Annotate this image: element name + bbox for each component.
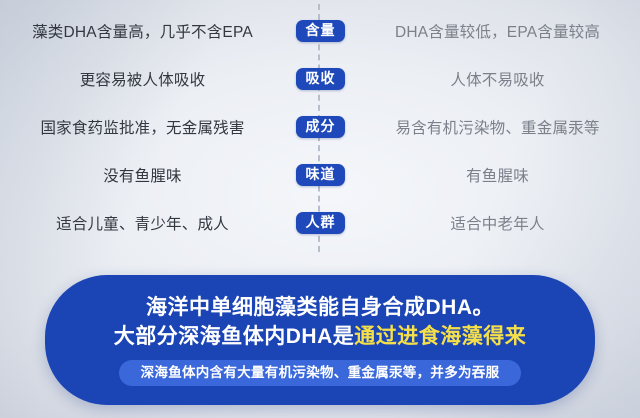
table-row: 藻类DHA含量高，几乎不含EPA 含量 DHA含量较低，EPA含量较高	[0, 18, 640, 44]
row-right-text: 适合中老年人	[355, 212, 640, 234]
row-badge-wrap: 吸收	[285, 68, 355, 90]
category-badge-audience: 人群	[296, 212, 345, 234]
row-right-text: DHA含量较低，EPA含量较高	[355, 20, 640, 42]
table-row: 没有鱼腥味 味道 有鱼腥味	[0, 162, 640, 188]
row-left-text: 适合儿童、青少年、成人	[0, 212, 285, 234]
summary-line-1: 海洋中单细胞藻类能自身合成DHA。	[146, 294, 494, 322]
row-left-text: 国家食药监批准，无金属残害	[0, 116, 285, 138]
summary-subpill: 深海鱼体内含有大量有机污染物、重金属汞等，并多为吞服	[119, 360, 522, 386]
row-right-text: 人体不易吸收	[355, 68, 640, 90]
row-left-text: 没有鱼腥味	[0, 164, 285, 186]
category-badge-ingredient: 成分	[296, 116, 345, 138]
row-badge-wrap: 含量	[285, 20, 355, 42]
row-badge-wrap: 成分	[285, 116, 355, 138]
table-row: 适合儿童、青少年、成人 人群 适合中老年人	[0, 210, 640, 236]
summary-line-2: 大部分深海鱼体内DHA是通过进食海藻得来	[114, 323, 527, 351]
summary-panel: 海洋中单细胞藻类能自身合成DHA。 大部分深海鱼体内DHA是通过进食海藻得来 深…	[45, 275, 595, 405]
row-badge-wrap: 人群	[285, 212, 355, 234]
summary-line-2-highlight: 通过进食海藻得来	[354, 325, 526, 348]
table-row: 国家食药监批准，无金属残害 成分 易含有机污染物、重金属汞等	[0, 114, 640, 140]
table-row: 更容易被人体吸收 吸收 人体不易吸收	[0, 66, 640, 92]
row-left-text: 藻类DHA含量高，几乎不含EPA	[0, 20, 285, 42]
category-badge-taste: 味道	[296, 164, 345, 186]
row-left-text: 更容易被人体吸收	[0, 68, 285, 90]
category-badge-absorption: 吸收	[296, 68, 345, 90]
row-badge-wrap: 味道	[285, 164, 355, 186]
comparison-table: 藻类DHA含量高，几乎不含EPA 含量 DHA含量较低，EPA含量较高 更容易被…	[0, 0, 640, 258]
summary-panel-inner: 海洋中单细胞藻类能自身合成DHA。 大部分深海鱼体内DHA是通过进食海藻得来 深…	[45, 275, 595, 405]
infographic-root: 藻类DHA含量高，几乎不含EPA 含量 DHA含量较低，EPA含量较高 更容易被…	[0, 0, 640, 418]
row-right-text: 有鱼腥味	[355, 164, 640, 186]
summary-line-2-plain: 大部分深海鱼体内DHA是	[114, 325, 355, 348]
category-badge-content: 含量	[296, 20, 345, 42]
row-right-text: 易含有机污染物、重金属汞等	[355, 116, 640, 138]
